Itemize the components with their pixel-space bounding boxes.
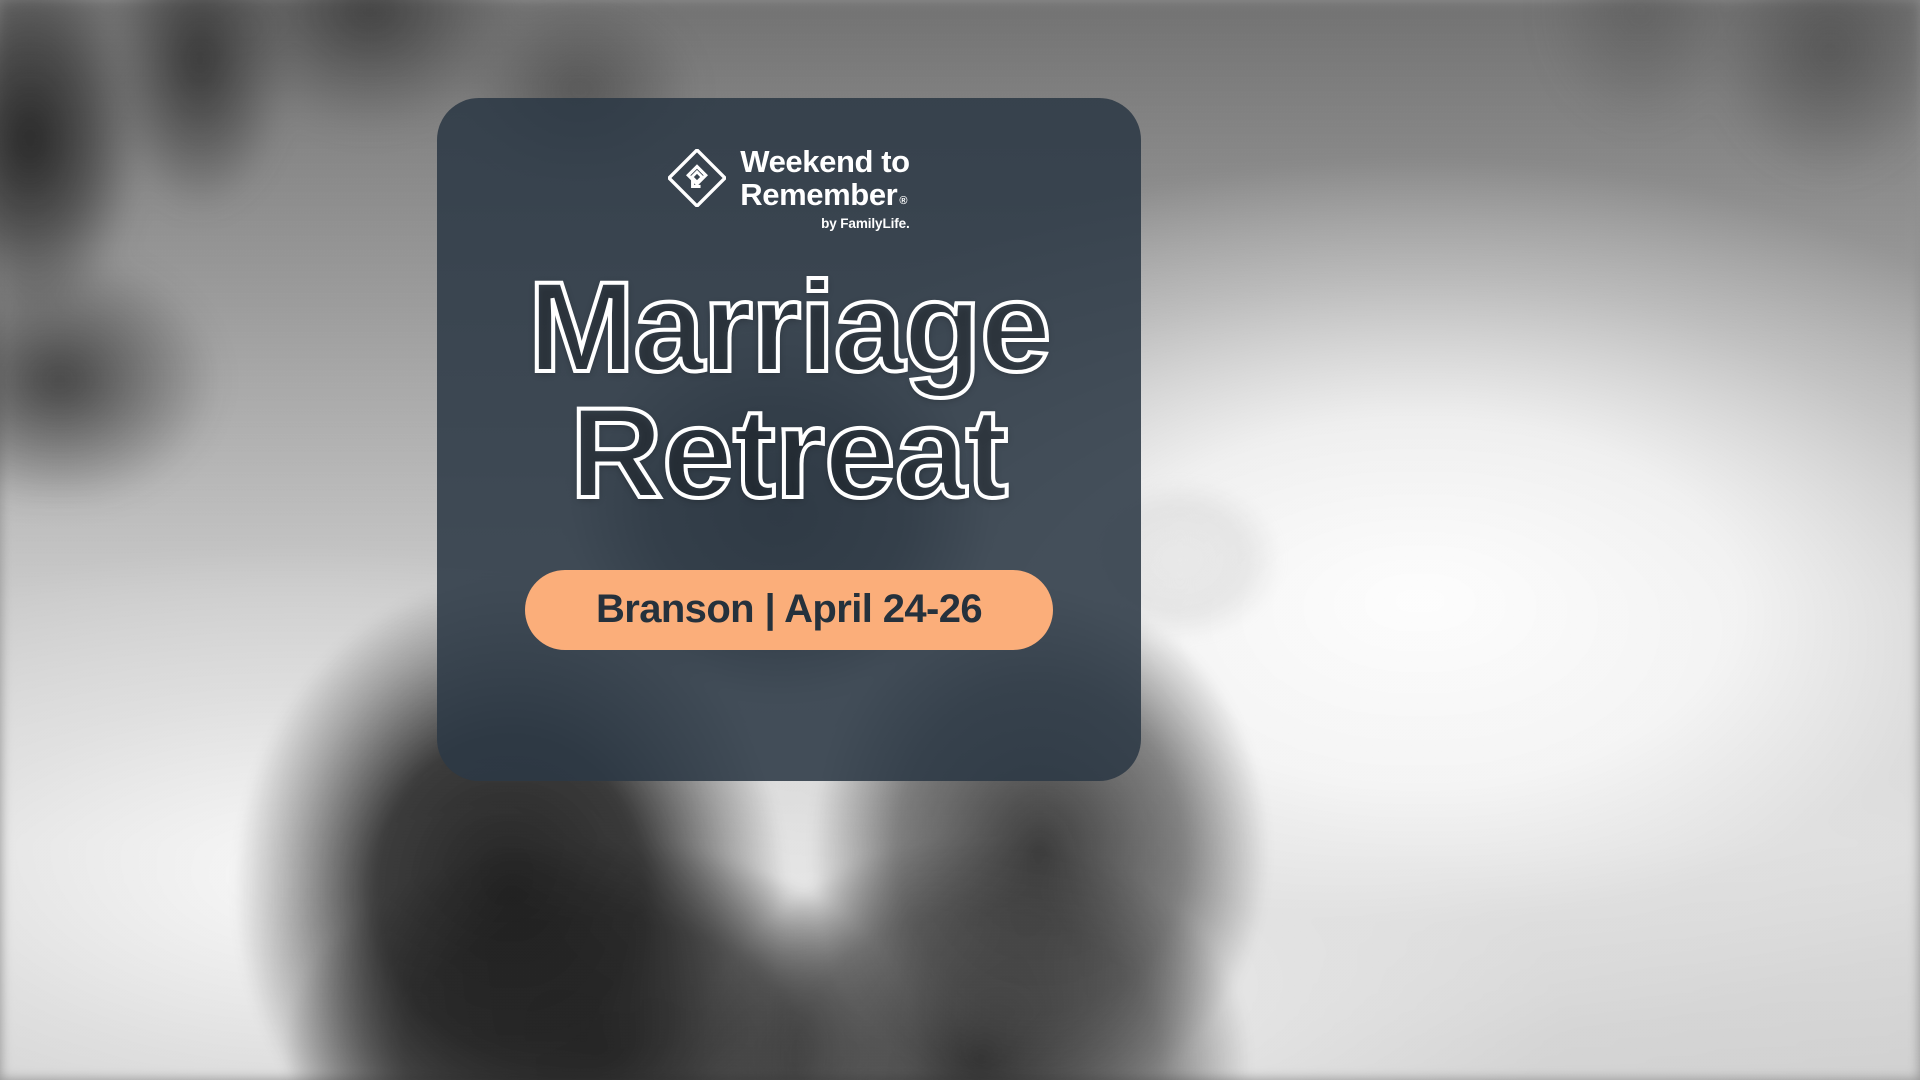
promo-graphic: Weekend to Remember ® by FamilyLife. Mar…: [0, 0, 1920, 1080]
brand-byline: by FamilyLife.: [740, 216, 909, 231]
location-date-badge[interactable]: Branson | April 24-26: [525, 570, 1053, 650]
brand-name-line-1: Weekend to: [740, 146, 909, 179]
brand-logo: Weekend to Remember ® by FamilyLife.: [668, 146, 909, 231]
brand-name-line-2-wrap: Remember ®: [740, 179, 909, 212]
weekend-to-remember-diamond-mark: [668, 149, 726, 212]
brand-name-line-2: Remember: [740, 179, 897, 212]
headline-line-2: Retreat: [528, 391, 1050, 518]
location-date-label: Branson | April 24-26: [596, 587, 982, 631]
headline-line-1: Marriage: [528, 265, 1050, 392]
headline: Marriage Retreat: [528, 265, 1050, 518]
brand-logo-text: Weekend to Remember ® by FamilyLife.: [740, 146, 909, 231]
promo-card: Weekend to Remember ® by FamilyLife. Mar…: [437, 98, 1141, 781]
registered-trademark-icon: ®: [899, 196, 907, 207]
